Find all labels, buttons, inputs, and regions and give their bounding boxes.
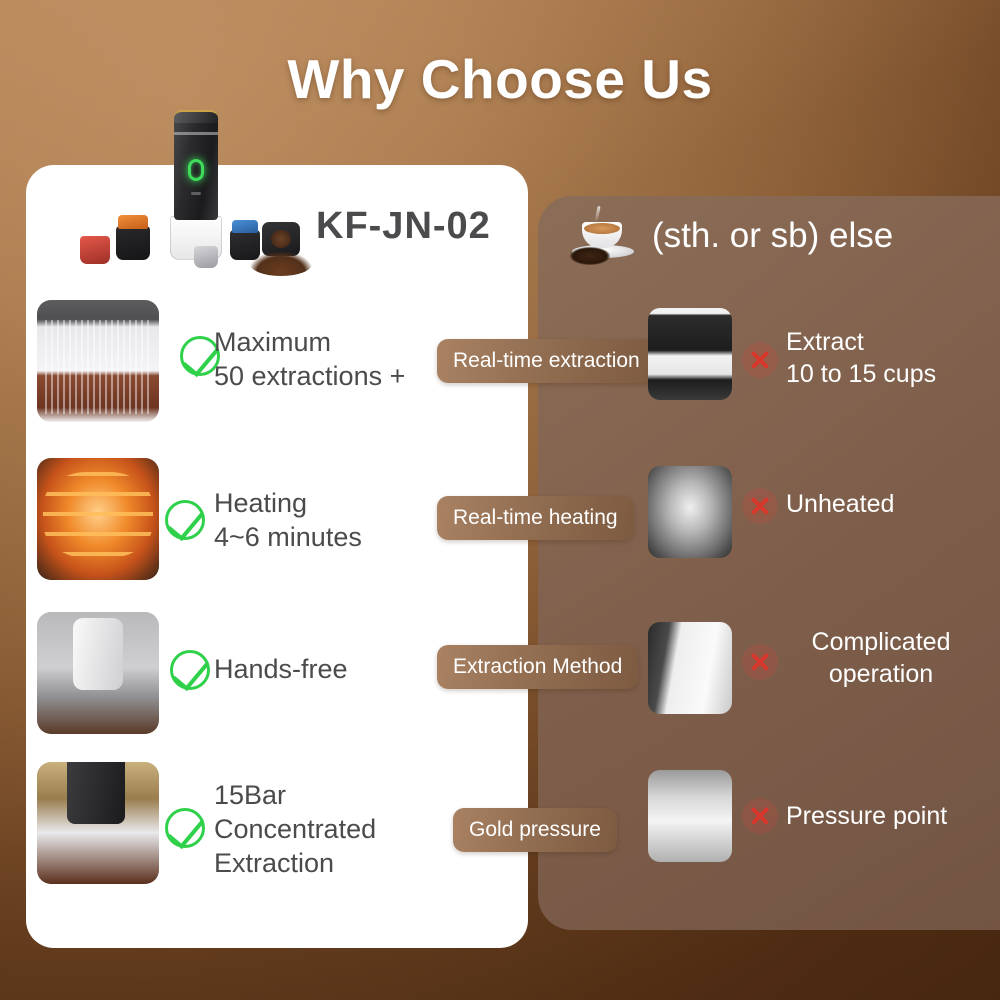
check-icon	[170, 650, 210, 690]
con-feature-text: Unheated	[786, 488, 894, 520]
check-icon	[165, 808, 205, 848]
hero-led-indicator	[188, 159, 204, 181]
product-model-label: KF-JN-02	[316, 205, 491, 248]
steam-wisp	[594, 206, 600, 222]
product-hero-image	[62, 104, 312, 276]
cross-icon	[742, 342, 778, 378]
pro-feature-text: 15Bar Concentrated Extraction	[214, 778, 376, 880]
coffee-grounds-pile	[250, 252, 312, 276]
competitor-label: (sth. or sb) else	[652, 216, 893, 256]
cross-icon	[742, 798, 778, 834]
feature-thumbnail-extractions	[37, 300, 159, 422]
pro-feature-text: Heating 4~6 minutes	[214, 486, 362, 554]
capsule-orange	[116, 226, 150, 260]
con-feature-text: Pressure point	[786, 800, 947, 832]
capsule-blue	[230, 230, 260, 260]
hero-power-button	[191, 192, 201, 195]
hero-machine-cap	[174, 110, 218, 123]
competitor-thumbnail-extractions	[648, 308, 732, 400]
coffee-beans-pile	[570, 247, 610, 265]
capsule-silver	[194, 246, 218, 268]
feature-thumbnail-pressure	[37, 762, 159, 884]
coffee-cup-icon	[570, 218, 636, 258]
check-icon	[165, 500, 205, 540]
feature-pill: Real-time extraction	[437, 339, 656, 383]
pro-feature-text: Hands-free	[214, 652, 348, 686]
feature-pill: Gold pressure	[453, 808, 617, 852]
competitor-thumbnail-pressure	[648, 770, 732, 862]
cross-icon	[742, 644, 778, 680]
feature-pill: Extraction Method	[437, 645, 638, 689]
competitor-thumbnail-operation	[648, 622, 732, 714]
con-feature-text: Extract 10 to 15 cups	[786, 326, 936, 390]
feature-thumbnail-heating	[37, 458, 159, 580]
crema-surface	[584, 223, 620, 234]
competitor-header: (sth. or sb) else	[556, 200, 956, 276]
feature-pill: Real-time heating	[437, 496, 634, 540]
con-feature-text: Complicated operation	[786, 626, 976, 690]
pro-feature-text: Maximum 50 extractions +	[214, 325, 405, 393]
cross-icon	[742, 488, 778, 524]
hero-machine-band	[174, 132, 218, 135]
competitor-thumbnail-unheated	[648, 466, 732, 558]
capsule-red	[80, 236, 110, 264]
page-title: Why Choose Us	[0, 47, 1000, 111]
feature-thumbnail-handsfree	[37, 612, 159, 734]
capsule-open-black	[262, 222, 300, 256]
